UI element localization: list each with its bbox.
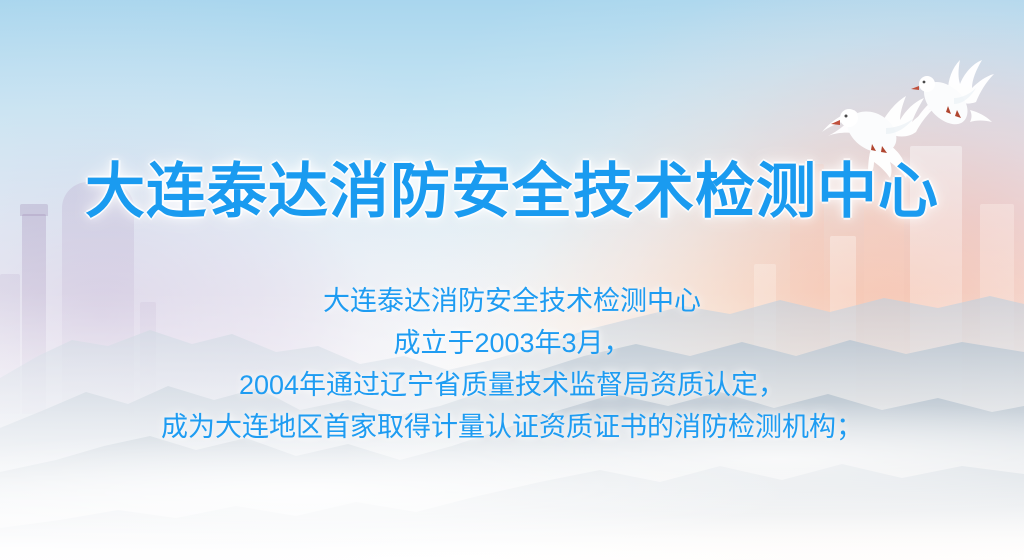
intro-line-3: 2004年通过辽宁省质量技术监督局资质认定， (0, 364, 1024, 406)
page-title: 大连泰达消防安全技术检测中心 (0, 162, 1024, 222)
intro-line-2: 成立于2003年3月， (0, 322, 1024, 364)
dove-right-icon (898, 56, 1004, 144)
mountain-range-front (0, 464, 1024, 560)
intro-line-4: 成为大连地区首家取得计量认证资质证书的消防检测机构； (0, 406, 1024, 448)
hero-banner: 大连泰达消防安全技术检测中心 大连泰达消防安全技术检测中心 成立于2003年3月… (0, 0, 1024, 560)
intro-paragraph: 大连泰达消防安全技术检测中心 成立于2003年3月， 2004年通过辽宁省质量技… (0, 280, 1024, 448)
intro-line-1: 大连泰达消防安全技术检测中心 (0, 280, 1024, 322)
